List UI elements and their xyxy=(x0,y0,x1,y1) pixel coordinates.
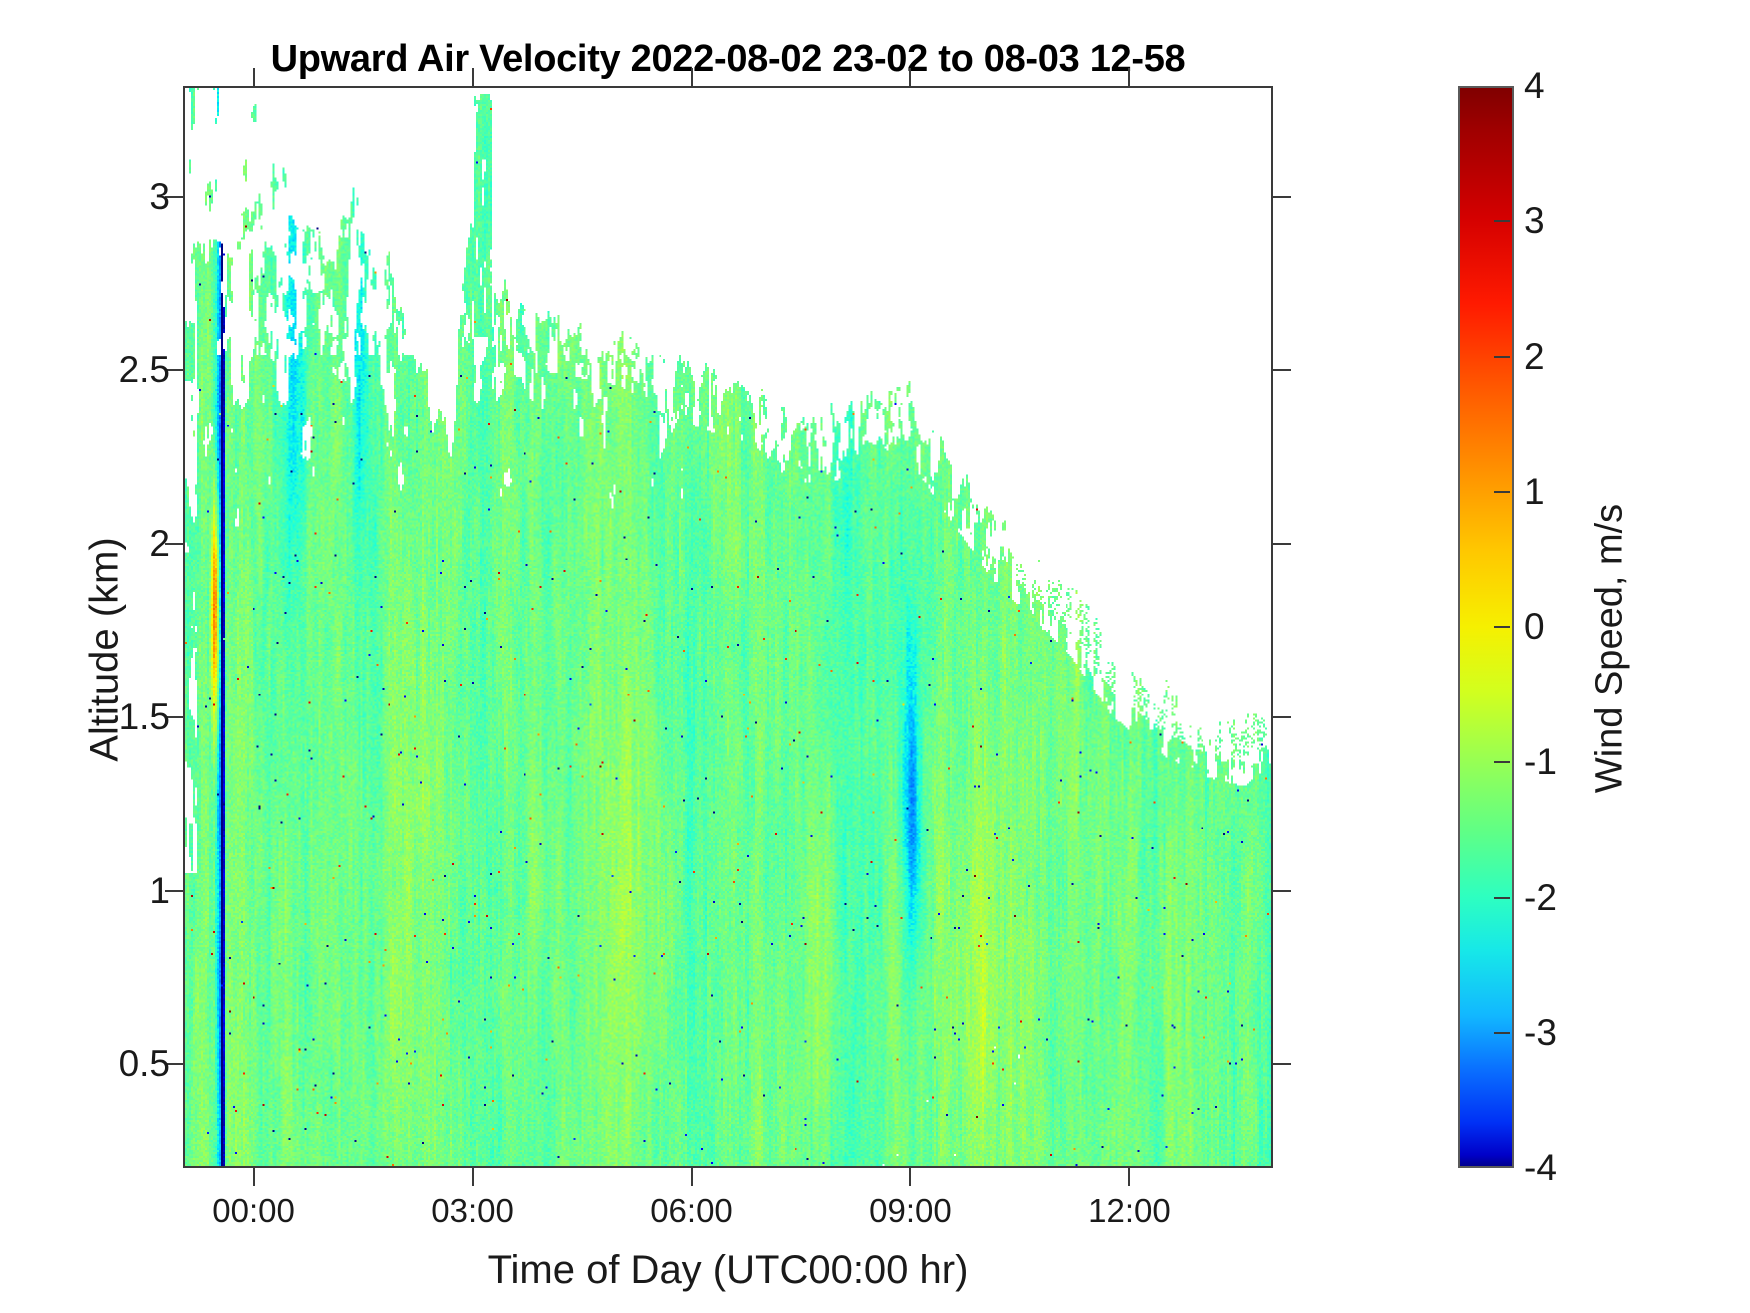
colorbar-tick-label: 3 xyxy=(1524,200,1545,242)
colorbar-tick-mark xyxy=(1494,491,1510,493)
x-tick-mark xyxy=(691,1168,693,1186)
y-tick-mark-right xyxy=(1273,716,1291,718)
colorbar-tick-label: -2 xyxy=(1524,877,1557,919)
y-tick-mark-right xyxy=(1273,1063,1291,1065)
colorbar-tick-label: 2 xyxy=(1524,336,1545,378)
x-tick-label: 12:00 xyxy=(1088,1192,1171,1230)
colorbar-tick-mark xyxy=(1494,220,1510,222)
y-tick-label: 1 xyxy=(149,870,170,912)
page-title: Upward Air Velocity 2022-08-02 23-02 to … xyxy=(183,38,1273,81)
y-tick-mark-right xyxy=(1273,543,1291,545)
x-tick-mark xyxy=(1128,1168,1130,1186)
x-tick-label: 03:00 xyxy=(431,1192,514,1230)
colorbar-tick-label: -1 xyxy=(1524,741,1557,783)
x-tick-label: 06:00 xyxy=(650,1192,733,1230)
colorbar-tick-label: -4 xyxy=(1524,1147,1557,1189)
y-tick-mark-right xyxy=(1273,890,1291,892)
y-tick-label: 2 xyxy=(149,523,170,565)
x-tick-mark-top xyxy=(909,68,911,86)
x-tick-mark xyxy=(253,1168,255,1186)
colorbar-tick-label: -3 xyxy=(1524,1012,1557,1054)
y-tick-label: 0.5 xyxy=(119,1043,170,1085)
x-tick-mark xyxy=(472,1168,474,1186)
colorbar-tick-label: 0 xyxy=(1524,606,1545,648)
x-tick-label: 00:00 xyxy=(212,1192,295,1230)
x-tick-mark xyxy=(909,1168,911,1186)
x-tick-mark-top xyxy=(691,68,693,86)
colorbar-tick-mark xyxy=(1494,626,1510,628)
heatmap-canvas xyxy=(185,88,1271,1166)
colorbar-tick-mark xyxy=(1494,897,1510,899)
colorbar-tick-mark xyxy=(1494,356,1510,358)
x-tick-mark-top xyxy=(253,68,255,86)
y-tick-mark-right xyxy=(1273,196,1291,198)
x-tick-mark-top xyxy=(1128,68,1130,86)
figure-root: Upward Air Velocity 2022-08-02 23-02 to … xyxy=(0,0,1750,1313)
colorbar-tick-mark xyxy=(1494,1032,1510,1034)
y-tick-mark-right xyxy=(1273,369,1291,371)
x-tick-label: 09:00 xyxy=(869,1192,952,1230)
colorbar-tick-mark xyxy=(1494,761,1510,763)
x-axis-title: Time of Day (UTC00:00 hr) xyxy=(183,1248,1273,1293)
colorbar-tick-label: 4 xyxy=(1524,65,1545,107)
y-axis-title: Altitude (km) xyxy=(83,370,128,930)
x-tick-mark-top xyxy=(472,68,474,86)
heatmap-plot-area xyxy=(183,86,1273,1168)
y-tick-label: 3 xyxy=(149,176,170,218)
colorbar-tick-label: 1 xyxy=(1524,471,1545,513)
colorbar-title: Wind Speed, m/s xyxy=(1589,369,1632,929)
